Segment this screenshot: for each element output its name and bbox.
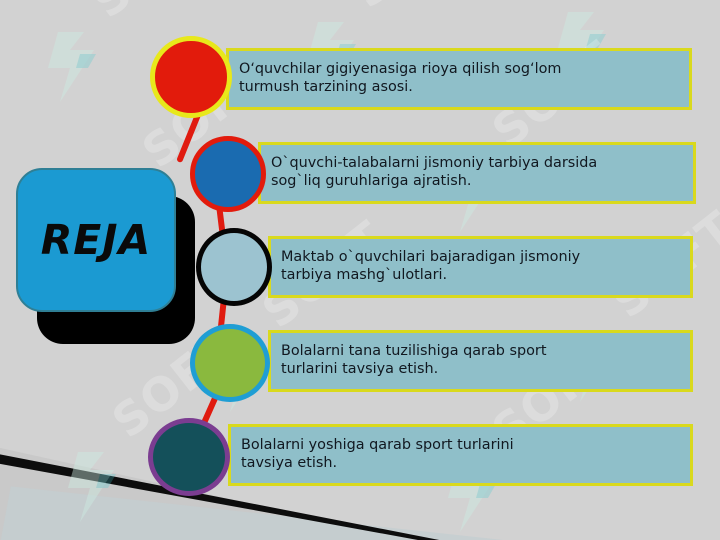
slide-canvas: REJA O‘quvchilar gigiyenasiga rioya qili… — [0, 0, 720, 540]
watermark-text: SOFT — [82, 0, 225, 29]
node-circle-3 — [196, 228, 272, 306]
item-textbox-2: O`quvchi-talabalarni jismoniy tarbiya da… — [258, 142, 696, 204]
item-textbox-1: O‘quvchilar gigiyenasiga rioya qilish so… — [226, 48, 692, 110]
item-text-3: Maktab o`quvchilari bajaradigan jismoniy… — [281, 249, 580, 284]
item-text-4: Bolalarni tana tuzilishiga qarab sport t… — [281, 343, 547, 378]
item-text-5: Bolalarni yoshiga qarab sport turlarini … — [241, 437, 514, 472]
item-text-1: O‘quvchilar gigiyenasiga rioya qilish so… — [239, 61, 561, 96]
node-circle-1 — [150, 36, 232, 118]
item-textbox-3: Maktab o`quvchilari bajaradigan jismoniy… — [268, 236, 693, 298]
watermark-text: SOFT — [342, 0, 485, 19]
item-textbox-5: Bolalarni yoshiga qarab sport turlarini … — [228, 424, 693, 486]
watermark-logo-icon — [40, 24, 114, 110]
item-text-2: O`quvchi-talabalarni jismoniy tarbiya da… — [271, 155, 597, 190]
reja-card: REJA — [16, 168, 176, 312]
item-textbox-4: Bolalarni tana tuzilishiga qarab sport t… — [268, 330, 693, 392]
node-circle-5 — [148, 418, 230, 496]
node-circle-4 — [190, 324, 270, 402]
node-circle-2 — [190, 136, 266, 212]
watermark-text: SOFT — [592, 0, 720, 9]
reja-card-label: REJA — [41, 220, 152, 261]
